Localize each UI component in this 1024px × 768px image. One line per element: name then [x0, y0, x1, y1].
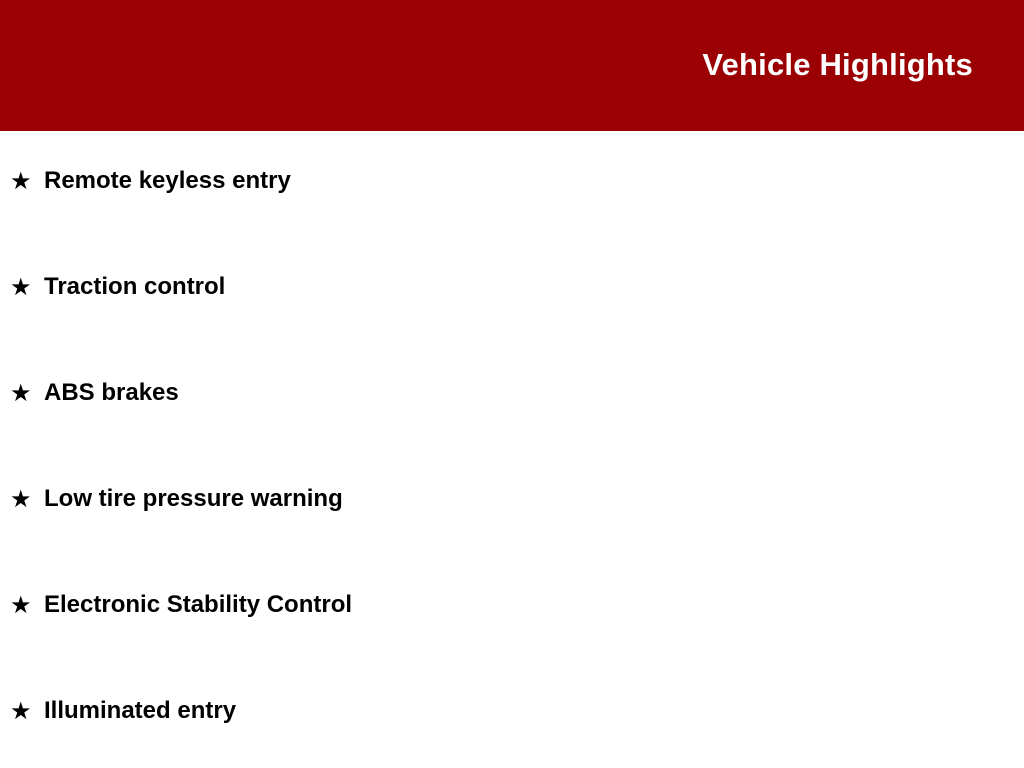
star-icon: ★	[10, 275, 36, 301]
list-item-label: Remote keyless entry	[44, 166, 291, 196]
list-item: ★ ABS brakes	[0, 343, 1024, 449]
list-item: ★ Remote keyless entry	[0, 131, 1024, 237]
list-item-label: ABS brakes	[44, 378, 179, 408]
vehicle-highlights-list: ★ Remote keyless entry ★ Traction contro…	[0, 131, 1024, 767]
list-item-label: Electronic Stability Control	[44, 590, 352, 620]
list-item-label: Illuminated entry	[44, 696, 236, 726]
star-icon: ★	[10, 699, 36, 725]
slide-header-band: Vehicle Highlights	[0, 0, 1024, 131]
star-icon: ★	[10, 593, 36, 619]
page-title: Vehicle Highlights	[702, 46, 973, 84]
star-icon: ★	[10, 381, 36, 407]
list-item: ★ Traction control	[0, 237, 1024, 343]
star-icon: ★	[10, 169, 36, 195]
slide: Vehicle Highlights ★ Remote keyless entr…	[0, 0, 1024, 768]
list-item: ★ Electronic Stability Control	[0, 555, 1024, 661]
list-item-label: Low tire pressure warning	[44, 484, 343, 514]
list-item: ★ Low tire pressure warning	[0, 449, 1024, 555]
list-item: ★ Illuminated entry	[0, 661, 1024, 767]
list-item-label: Traction control	[44, 272, 225, 302]
star-icon: ★	[10, 487, 36, 513]
